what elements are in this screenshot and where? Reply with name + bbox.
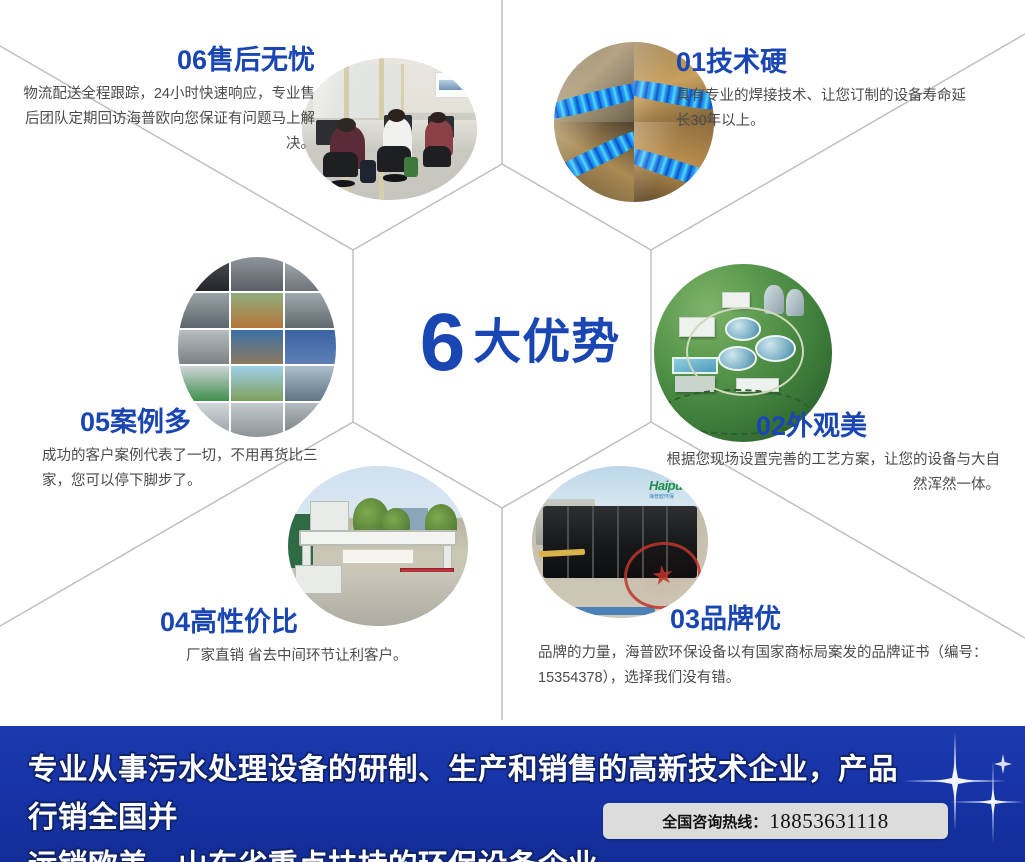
center-title: 6 大优势 (380, 288, 660, 398)
hotline-number: 18853631118 (769, 809, 888, 834)
feature-06: 06售后无忧 物流配送全程跟踪，24小时快速响应，专业售后团队定期回访海普欧向您… (10, 46, 315, 157)
feature-06-body: 物流配送全程跟踪，24小时快速响应，专业售后团队定期回访海普欧向您保证有问题马上… (10, 82, 315, 157)
feature-03-title: 03品牌优 (670, 605, 998, 635)
feature-03: 03品牌优 品牌的力量，海普欧环保设备以有国家商标局案发的品牌证书（编号：153… (538, 605, 998, 691)
bottom-banner: 专业从事污水处理设备的研制、生产和销售的高新技术企业，产品行销全国并 远销欧美，… (0, 726, 1025, 862)
feature-01-body: 具有专业的焊接技术、让您订制的设备寿命延长30年以上。 (676, 84, 976, 134)
banner-slogan-line2: 远销欧美，山东省重点扶持的环保设备企业。 (28, 842, 908, 862)
feature-03-body: 品牌的力量，海普欧环保设备以有国家商标局案发的品牌证书（编号：15354378）… (538, 641, 998, 691)
infographic-page: 6 大优势 (0, 0, 1025, 862)
office-staff-photo (302, 58, 477, 200)
feature-04: 04高性价比 厂家直销 省去中间环节让利客户。 (160, 608, 490, 669)
center-number: 6 (420, 302, 464, 384)
feature-04-body: 厂家直销 省去中间环节让利客户。 (186, 644, 490, 669)
feature-05-title: 05案例多 (80, 408, 332, 438)
hotline-box[interactable]: 全国咨询热线： 18853631118 (603, 803, 948, 839)
feature-02-body: 根据您现场设置完善的工艺方案，让您的设备与大自然浑然一体。 (660, 448, 1000, 498)
feature-02: 02外观美 根据您现场设置完善的工艺方案，让您的设备与大自然浑然一体。 (660, 412, 1000, 498)
feature-02-title: 02外观美 (756, 412, 1000, 442)
feature-05: 05案例多 成功的客户案例代表了一切，不用再货比三家，您可以停下脚步了。 (42, 408, 332, 494)
hotline-label: 全国咨询热线： (662, 811, 767, 832)
feature-01-title: 01技术硬 (676, 48, 976, 78)
feature-04-title: 04高性价比 (160, 608, 490, 638)
feature-01: 01技术硬 具有专业的焊接技术、让您订制的设备寿命延长30年以上。 (676, 48, 976, 134)
center-word: 大优势 (473, 319, 620, 367)
feature-05-body: 成功的客户案例代表了一切，不用再货比三家，您可以停下脚步了。 (42, 444, 332, 494)
feature-06-title: 06售后无忧 (10, 46, 315, 76)
